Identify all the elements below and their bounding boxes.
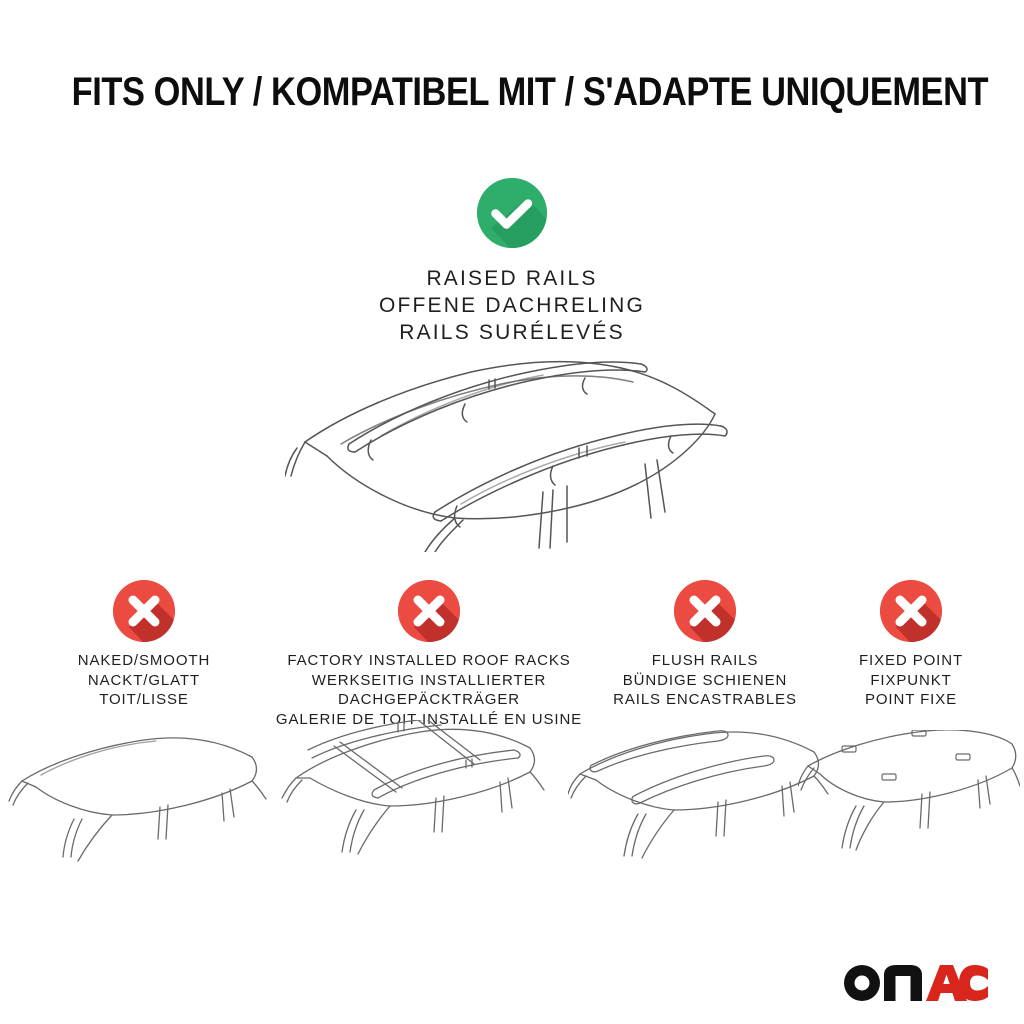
incompatible-item-fixed-point: FIXED POINT FIXPUNKT POINT FIXE <box>821 580 1001 710</box>
caption-line-de: BÜNDIGE SCHIENEN <box>585 671 825 691</box>
caption-line-en: FLUSH RAILS <box>585 651 825 671</box>
page-title: FITS ONLY / KOMPATIBEL MIT / S'ADAPTE UN… <box>72 72 953 112</box>
compatible-section: RAISED RAILS OFFENE DACHRELING RAILS SUR… <box>0 178 1024 347</box>
compatible-line-fr: RAILS SURÉLEVÉS <box>0 320 1024 347</box>
compatible-line-de: OFFENE DACHRELING <box>0 293 1024 320</box>
omac-logo <box>843 963 988 1003</box>
caption-line-en: NAKED/SMOOTH <box>4 651 284 671</box>
incompatible-item-factory-racks: FACTORY INSTALLED ROOF RACKS WERKSEITIG … <box>269 580 589 729</box>
x-circle-icon <box>674 580 736 642</box>
incompatible-item-naked: NAKED/SMOOTH NACKT/GLATT TOIT/LISSE <box>4 580 284 710</box>
caption-line-fr: POINT FIXE <box>821 690 1001 710</box>
caption-line-de: FIXPUNKT <box>821 671 1001 691</box>
caption-line-de: NACKT/GLATT <box>4 671 284 691</box>
caption-line-en: FIXED POINT <box>821 651 1001 671</box>
x-circle-icon <box>880 580 942 642</box>
car-roof-fixed-point-illustration <box>798 730 1020 890</box>
incompatible-caption: FIXED POINT FIXPUNKT POINT FIXE <box>821 651 1001 710</box>
car-roof-raised-rails-illustration <box>285 352 745 552</box>
x-circle-icon <box>113 580 175 642</box>
car-roof-naked-illustration <box>8 735 270 890</box>
caption-line-fr: RAILS ENCASTRABLES <box>585 690 825 710</box>
x-circle-icon <box>398 580 460 642</box>
caption-line-fr: TOIT/LISSE <box>4 690 284 710</box>
fitment-info-graphic: FITS ONLY / KOMPATIBEL MIT / S'ADAPTE UN… <box>0 0 1024 1024</box>
check-circle-icon <box>477 178 547 248</box>
incompatible-item-flush-rails: FLUSH RAILS BÜNDIGE SCHIENEN RAILS ENCAS… <box>585 580 825 710</box>
compatible-line-en: RAISED RAILS <box>0 266 1024 293</box>
incompatible-caption: FLUSH RAILS BÜNDIGE SCHIENEN RAILS ENCAS… <box>585 651 825 710</box>
incompatible-section: NAKED/SMOOTH NACKT/GLATT TOIT/LISSE FACT… <box>0 580 1024 740</box>
caption-line-de-1: WERKSEITIG INSTALLIERTER <box>269 671 589 691</box>
compatible-caption: RAISED RAILS OFFENE DACHRELING RAILS SUR… <box>0 266 1024 347</box>
caption-line-de-2: DACHGEPÄCKTRÄGER <box>269 690 589 710</box>
incompatible-caption: FACTORY INSTALLED ROOF RACKS WERKSEITIG … <box>269 651 589 729</box>
car-roof-factory-racks-illustration <box>278 720 568 890</box>
caption-line-en: FACTORY INSTALLED ROOF RACKS <box>269 651 589 671</box>
incompatible-caption: NAKED/SMOOTH NACKT/GLATT TOIT/LISSE <box>4 651 284 710</box>
